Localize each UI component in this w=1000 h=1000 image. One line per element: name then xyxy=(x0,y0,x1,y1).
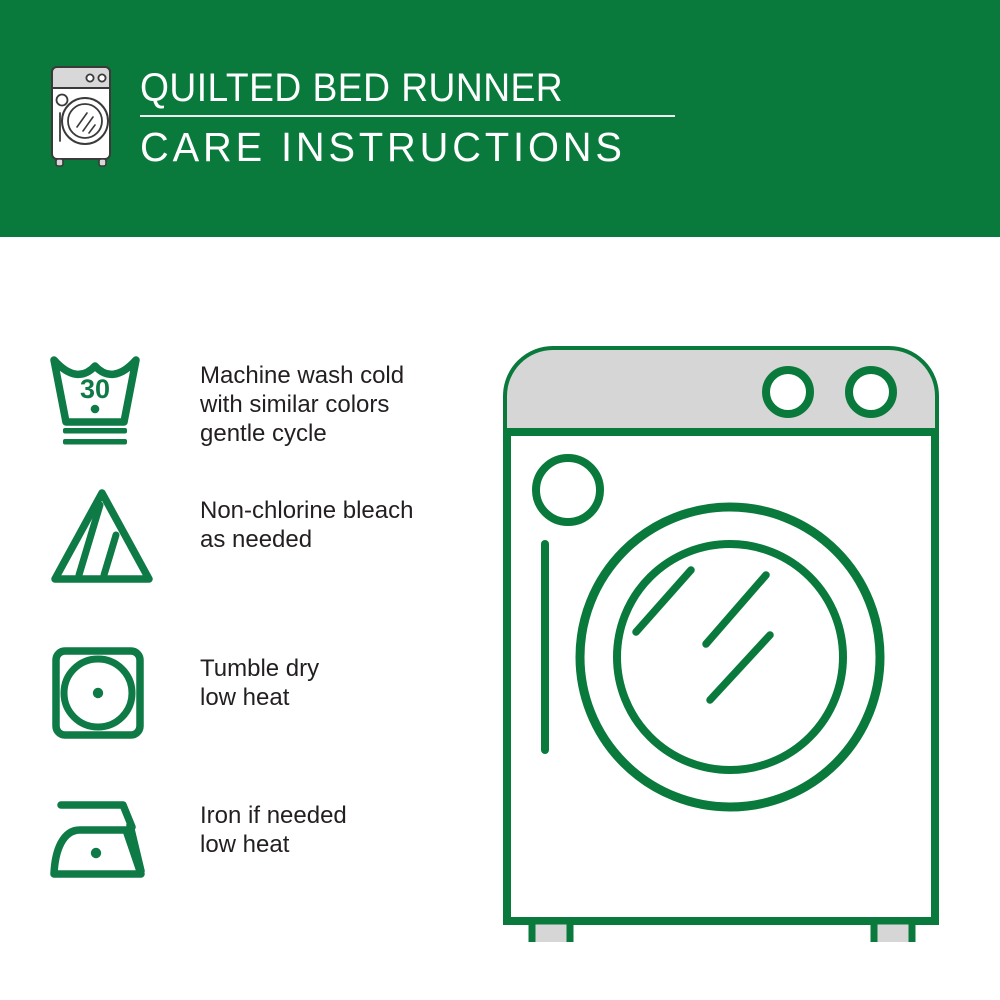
care-instruction-text: Non-chlorine bleach as needed xyxy=(200,487,413,554)
front-load-washing-machine-illustration xyxy=(488,332,968,942)
page-title-secondary: CARE INSTRUCTIONS xyxy=(140,124,722,170)
machine-knob xyxy=(849,370,893,414)
iron-low-heat-icon xyxy=(50,792,158,892)
detergent-dial-icon xyxy=(536,458,600,522)
care-instruction-text: Iron if needed low heat xyxy=(200,792,347,859)
machine-leg xyxy=(532,921,570,942)
washing-machine-icon xyxy=(45,63,117,169)
care-instruction-text: Tumble dry low heat xyxy=(200,645,319,712)
non-chlorine-bleach-triangle-icon xyxy=(50,487,158,587)
wash-tub-30-gentle-icon: 30 xyxy=(50,352,158,452)
care-instruction-row: 30 Machine wash cold with similar colors… xyxy=(50,352,404,452)
page-title-primary: QUILTED BED RUNNER xyxy=(140,66,698,110)
title-divider xyxy=(140,115,675,117)
machine-leg xyxy=(874,921,912,942)
header-text-block: QUILTED BED RUNNER CARE INSTRUCTIONS xyxy=(140,66,740,170)
care-instructions-infographic: QUILTED BED RUNNER CARE INSTRUCTIONS 30 … xyxy=(0,0,1000,1000)
care-instruction-row: Non-chlorine bleach as needed xyxy=(50,487,413,587)
header-band: QUILTED BED RUNNER CARE INSTRUCTIONS xyxy=(0,0,1000,237)
care-instruction-row: Iron if needed low heat xyxy=(50,792,347,892)
wash-temperature-value: 30 xyxy=(80,374,110,404)
tumble-dry-low-heat-icon xyxy=(50,645,158,745)
machine-knob xyxy=(766,370,810,414)
door-inner-ring xyxy=(617,544,843,770)
care-instruction-text: Machine wash cold with similar colors ge… xyxy=(200,352,404,448)
care-instruction-row: Tumble dry low heat xyxy=(50,645,319,745)
